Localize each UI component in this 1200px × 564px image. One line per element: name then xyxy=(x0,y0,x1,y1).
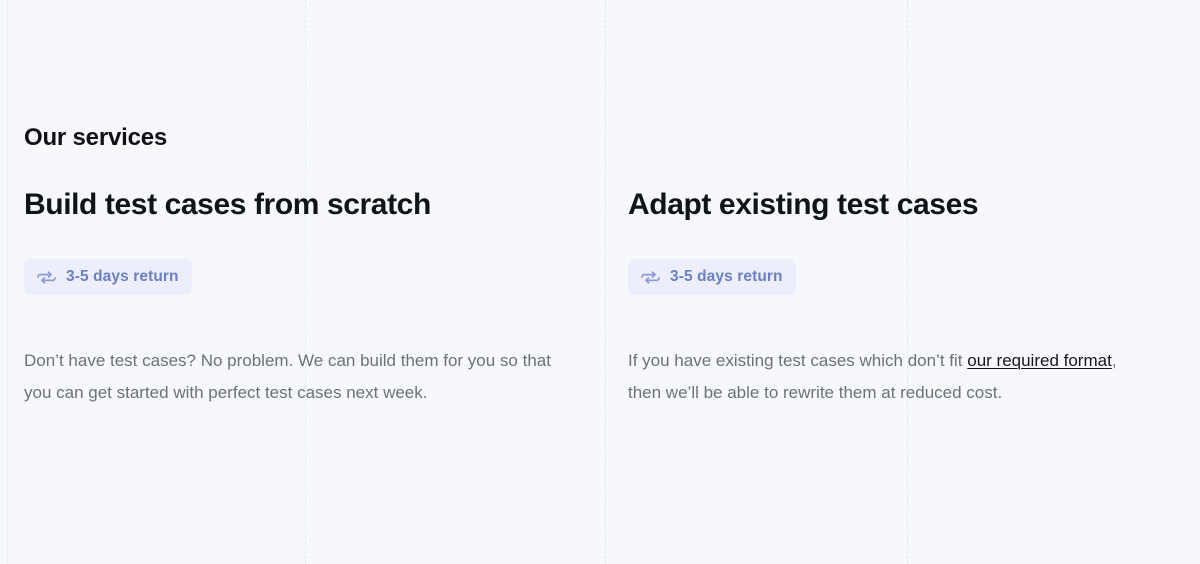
service-badge-row: 3-5 days return xyxy=(24,259,572,295)
services-columns: Build test cases from scratch xyxy=(0,186,1200,426)
service-card-adapt-existing: Adapt existing test cases xyxy=(602,186,1200,426)
loop-arrows-icon xyxy=(640,267,661,288)
return-time-badge-label: 3-5 days return xyxy=(66,267,179,287)
service-badge-row: 3-5 days return xyxy=(628,259,1170,295)
service-title: Build test cases from scratch xyxy=(24,186,572,224)
service-description: If you have existing test cases which do… xyxy=(628,345,1148,409)
return-time-badge: 3-5 days return xyxy=(628,259,796,295)
required-format-link[interactable]: our required format xyxy=(967,351,1112,370)
service-description: Don’t have test cases? No problem. We ca… xyxy=(24,345,569,409)
loop-arrows-icon xyxy=(36,267,57,288)
return-time-badge-label: 3-5 days return xyxy=(670,267,783,287)
service-title: Adapt existing test cases xyxy=(628,186,1170,224)
service-description-text-before-link: If you have existing test cases which do… xyxy=(628,351,967,370)
service-card-build-from-scratch: Build test cases from scratch xyxy=(0,186,602,426)
services-section: Our services Build test cases from scrat… xyxy=(0,0,1200,564)
return-time-badge: 3-5 days return xyxy=(24,259,192,295)
service-description-text: Don’t have test cases? No problem. We ca… xyxy=(24,351,551,402)
section-eyebrow-heading: Our services xyxy=(24,120,167,156)
